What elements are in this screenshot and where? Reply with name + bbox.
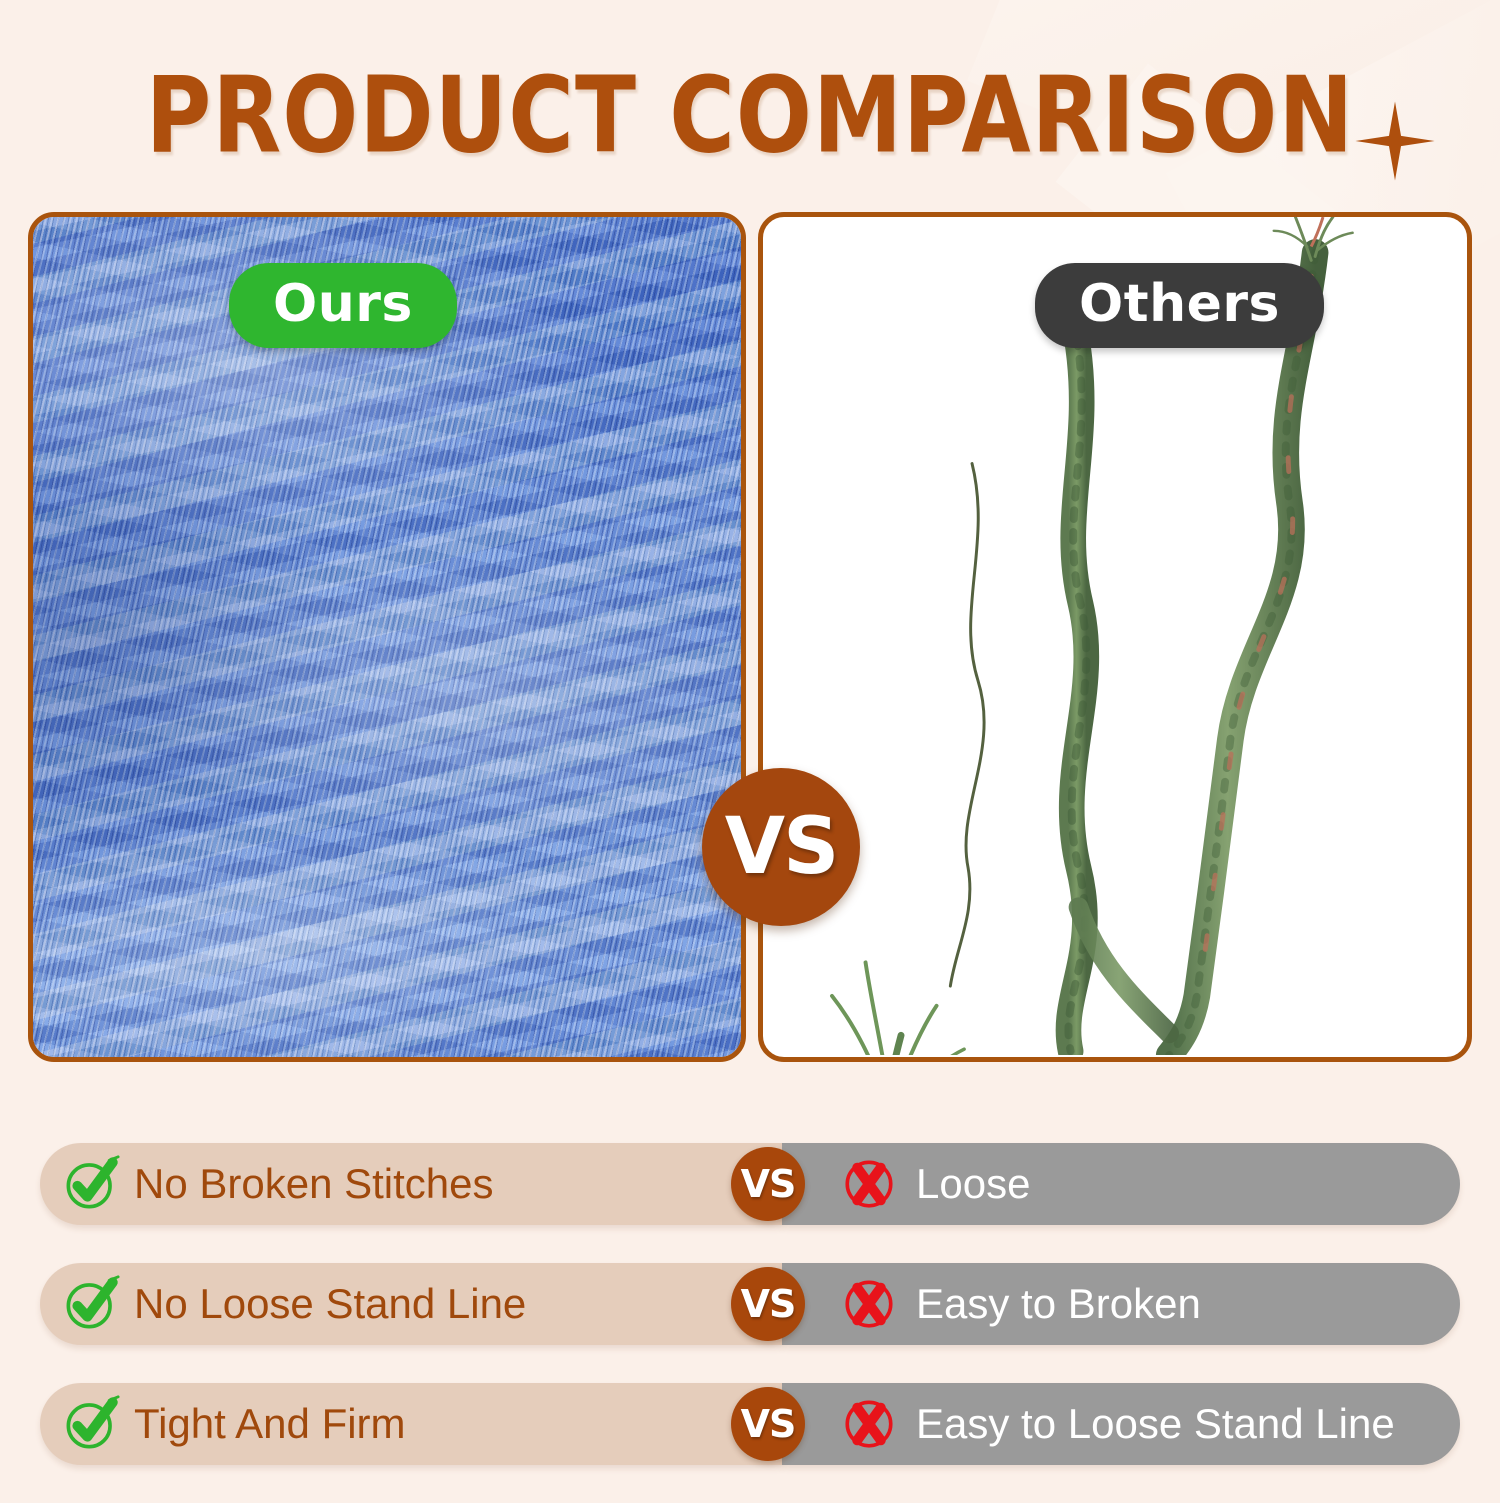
feature-good-label: No Broken Stitches [134,1160,494,1208]
feature-bad-pill: Easy to Broken [782,1263,1460,1345]
feature-vs-label: VS [741,1402,796,1446]
green-check-circle-icon [62,1155,120,1213]
feature-good-pill: No Broken Stitches [40,1143,782,1225]
feature-good-label: No Loose Stand Line [134,1280,526,1328]
feature-vs-label: VS [741,1282,796,1326]
others-panel: Others [758,212,1472,1062]
feature-row: No Broken Stitches Loose VS [40,1143,1460,1225]
page-title: PRODUCT COMPARISON [146,55,1355,177]
feature-vs-badge: VS [731,1267,805,1341]
green-check-circle-icon [62,1275,120,1333]
page-title-container: PRODUCT COMPARISON [0,66,1500,166]
feature-good-pill: No Loose Stand Line [40,1263,782,1345]
feature-row: No Loose Stand Line Easy to Broken VS [40,1263,1460,1345]
feature-bad-label: Easy to Broken [916,1280,1201,1328]
red-cross-circle-icon [840,1395,898,1453]
feature-bad-label: Loose [916,1160,1030,1208]
feature-bad-pill: Easy to Loose Stand Line [782,1383,1460,1465]
green-check-circle-icon [62,1395,120,1453]
feature-vs-badge: VS [731,1387,805,1461]
feature-good-label: Tight And Firm [134,1400,406,1448]
feature-bad-pill: Loose [782,1143,1460,1225]
red-cross-circle-icon [840,1275,898,1333]
feature-vs-label: VS [741,1162,796,1206]
ours-panel: Ours [28,212,746,1062]
feature-comparison-list: No Broken Stitches Loose VS No Loose Sta… [40,1143,1460,1503]
vs-medallion: VS [702,768,860,926]
four-point-star-icon [1352,98,1438,184]
feature-vs-badge: VS [731,1147,805,1221]
feature-row: Tight And Firm Easy to Loose Stand Line … [40,1383,1460,1465]
comparison-panels: Ours [28,212,1472,1062]
others-badge: Others [1035,263,1324,348]
red-cross-circle-icon [840,1155,898,1213]
ours-badge: Ours [229,263,457,348]
feature-good-pill: Tight And Firm [40,1383,782,1465]
feature-bad-label: Easy to Loose Stand Line [916,1400,1395,1448]
vs-medallion-label: VS [725,802,838,892]
